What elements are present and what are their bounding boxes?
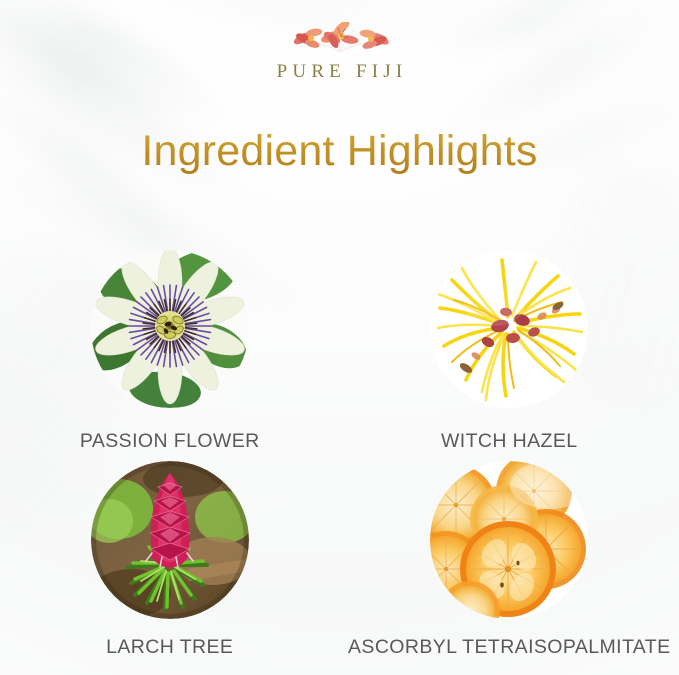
ingredient-card-witch-hazel: WITCH HAZEL <box>340 250 679 453</box>
ingredient-label: LARCH TREE <box>106 636 233 659</box>
passion-flower-photo <box>91 250 249 408</box>
brand-name: PURE FIJI <box>0 61 679 83</box>
ingredient-grid: PASSION FLOWER <box>0 250 679 659</box>
tropical-flowers-icon <box>281 22 399 60</box>
ingredient-row-1: PASSION FLOWER <box>0 250 679 453</box>
larch-tree-cone-photo <box>91 461 249 619</box>
ingredient-highlights-page: PURE FIJI Ingredient Highlights <box>0 0 679 675</box>
ingredient-card-ascorbyl-tetraisopalmitate: ASCORBYL TETRAISOPALMITATE <box>340 461 679 659</box>
brand-logo: PURE FIJI <box>0 22 679 83</box>
ingredient-label: WITCH HAZEL <box>441 430 578 453</box>
ingredient-row-2: LARCH TREE <box>0 453 679 659</box>
witch-hazel-photo <box>430 250 588 408</box>
orange-slices-photo <box>430 461 588 619</box>
ingredient-card-passion-flower: PASSION FLOWER <box>0 250 340 453</box>
ingredient-card-larch-tree: LARCH TREE <box>0 461 340 659</box>
page-title: Ingredient Highlights <box>0 127 679 176</box>
ingredient-label: ASCORBYL TETRAISOPALMITATE <box>348 636 670 659</box>
ingredient-label: PASSION FLOWER <box>80 430 260 453</box>
